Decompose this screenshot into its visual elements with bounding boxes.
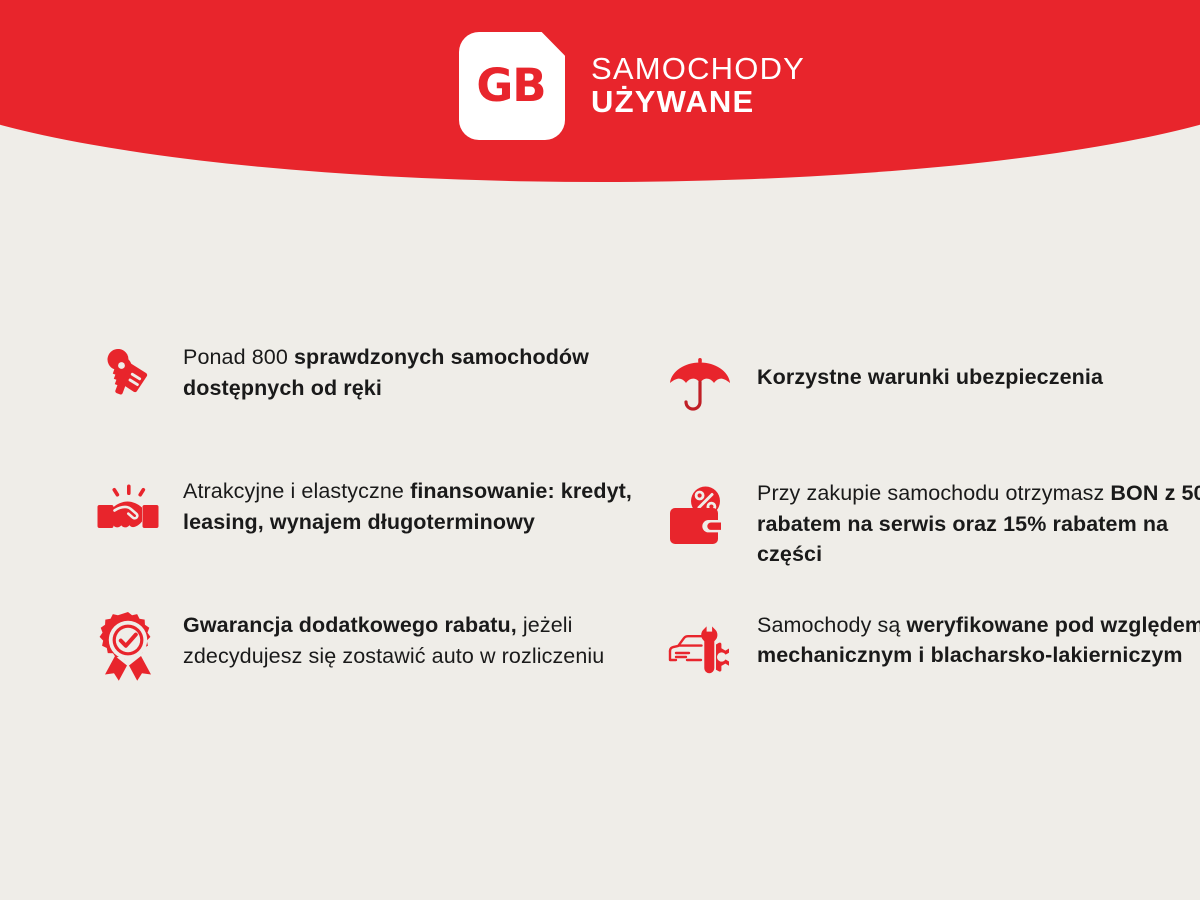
handshake-icon <box>95 474 161 550</box>
award-rosette-icon <box>95 608 161 684</box>
car-service-icon <box>665 610 735 686</box>
feature-item-insurance: Korzystne warunki ubezpieczenia <box>665 348 1200 424</box>
feature-text-insurance: Korzystne warunki ubezpieczenia <box>757 348 1103 393</box>
gb-logo-mark: GB <box>459 32 565 140</box>
brand-logo-lockup[interactable]: GB SAMOCHODY UŻYWANE <box>459 32 805 140</box>
brand-wordmark: SAMOCHODY UŻYWANE <box>591 53 805 119</box>
brand-wordmark-line-2: UŻYWANE <box>591 86 805 119</box>
feature-item-cars-available: Ponad 800 sprawdzonych samochodów dostęp… <box>95 340 645 416</box>
feature-bold: Gwarancja dodatkowego rabatu, <box>183 613 517 637</box>
brand-wordmark-line-1: SAMOCHODY <box>591 53 805 86</box>
umbrella-icon <box>665 348 735 424</box>
features-left-column: Ponad 800 sprawdzonych samochodów dostęp… <box>95 330 645 686</box>
wallet-percent-icon <box>665 478 735 554</box>
feature-lead: Samochody są <box>757 613 907 637</box>
feature-bold: Korzystne warunki ubezpieczenia <box>757 365 1103 389</box>
feature-item-trade-in-discount: Gwarancja dodatkowego rabatu, jeżeli zde… <box>95 608 645 684</box>
feature-text-service-voucher: Przy zakupie samochodu otrzymasz BON z 5… <box>757 478 1200 570</box>
feature-lead: Atrakcyjne i elastyczne <box>183 479 410 503</box>
gb-logo-letters: GB <box>476 63 545 108</box>
feature-text-financing: Atrakcyjne i elastyczne finansowanie: kr… <box>183 474 645 537</box>
car-key-icon <box>95 340 161 416</box>
feature-text-cars-available: Ponad 800 sprawdzonych samochodów dostęp… <box>183 340 645 403</box>
feature-lead: Przy zakupie samochodu otrzymasz <box>757 481 1110 505</box>
feature-item-financing: Atrakcyjne i elastyczne finansowanie: kr… <box>95 474 645 550</box>
feature-item-service-voucher: Przy zakupie samochodu otrzymasz BON z 5… <box>665 478 1200 570</box>
feature-lead: Ponad 800 <box>183 345 294 369</box>
feature-item-verification: Samochody są weryfikowane pod względem m… <box>665 610 1200 686</box>
feature-text-verification: Samochody są weryfikowane pod względem m… <box>757 610 1200 671</box>
feature-text-trade-in-discount: Gwarancja dodatkowego rabatu, jeżeli zde… <box>183 608 645 671</box>
features-right-column: Korzystne warunki ubezpieczenia <box>665 330 1200 686</box>
features-grid: Ponad 800 sprawdzonych samochodów dostęp… <box>0 330 1200 686</box>
